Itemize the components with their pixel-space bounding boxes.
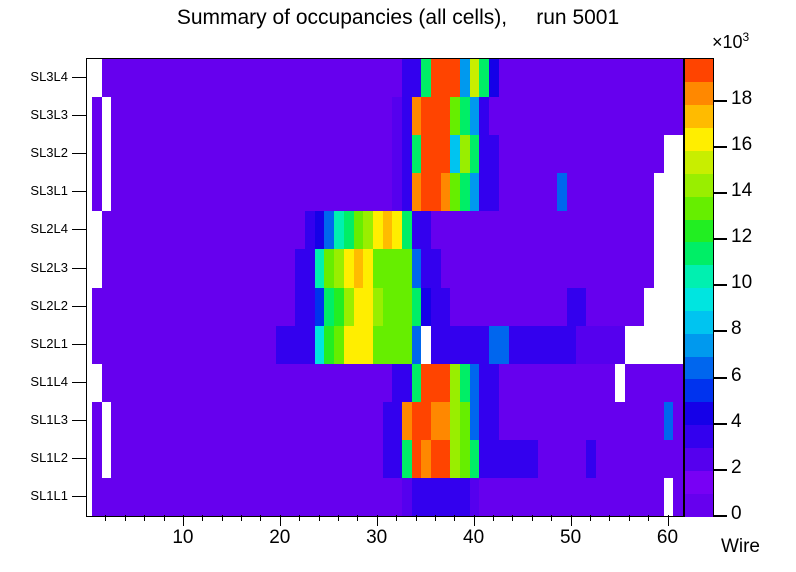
x-tick-label: 10 <box>153 527 213 549</box>
x-tick <box>338 515 339 521</box>
x-tick <box>125 515 126 521</box>
heatmap-cell <box>673 326 683 365</box>
heatmap-grid[interactable] <box>87 59 683 516</box>
x-tick <box>396 515 397 521</box>
colorbar-band <box>685 356 713 379</box>
x-tick <box>260 515 261 521</box>
y-tick-label-sl3l2: SL3L2 <box>0 145 68 160</box>
y-tick-label-sl1l2: SL1L2 <box>0 450 68 465</box>
page-title: Summary of occupancies (all cells), run … <box>0 6 796 30</box>
y-tick <box>72 191 86 192</box>
y-tick <box>72 268 86 269</box>
colorbar-tick <box>714 100 727 102</box>
colorbar-band <box>685 470 713 493</box>
colorbar-tick-label: 6 <box>731 365 742 387</box>
x-tick <box>241 515 242 521</box>
colorbar-band <box>685 59 713 82</box>
colorbar-band <box>685 379 713 402</box>
colorbar-tick <box>714 515 727 517</box>
heatmap-cell <box>673 135 683 174</box>
y-tick-label-sl1l1: SL1L1 <box>0 488 68 503</box>
x-tick <box>183 515 184 526</box>
y-tick <box>72 496 86 497</box>
y-tick <box>72 458 86 459</box>
x-tick <box>299 515 300 521</box>
x-tick <box>609 515 610 521</box>
colorbar-band <box>685 288 713 311</box>
heatmap-cell <box>673 288 683 327</box>
heatmap-cell <box>673 211 683 250</box>
y-tick <box>72 306 86 307</box>
y-tick <box>72 115 86 116</box>
x-tick <box>377 515 378 526</box>
x-tick-label: 50 <box>541 527 601 549</box>
x-tick <box>416 515 417 521</box>
y-tick-label-sl3l3: SL3L3 <box>0 107 68 122</box>
colorbar-tick-label: 10 <box>731 272 752 294</box>
y-tick <box>72 382 86 383</box>
colorbar-tick <box>714 330 727 332</box>
y-tick-label-sl1l3: SL1L3 <box>0 412 68 427</box>
y-tick <box>72 344 86 345</box>
colorbar[interactable] <box>684 58 714 517</box>
colorbar-band <box>685 425 713 448</box>
heatmap-cell <box>673 364 683 403</box>
y-tick <box>72 77 86 78</box>
y-tick-label-sl3l4: SL3L4 <box>0 69 68 84</box>
colorbar-tick-label: 12 <box>731 226 752 248</box>
x-tick <box>629 515 630 521</box>
root-canvas: Summary of occupancies (all cells), run … <box>0 0 796 572</box>
colorbar-band <box>685 196 713 219</box>
colorbar-band <box>685 173 713 196</box>
colorbar-band <box>685 265 713 288</box>
y-tick-label-sl2l3: SL2L3 <box>0 260 68 275</box>
colorbar-band <box>685 242 713 265</box>
colorbar-gradient <box>685 59 713 516</box>
y-tick <box>72 420 86 421</box>
x-tick-label: 30 <box>347 527 407 549</box>
colorbar-band <box>685 310 713 333</box>
x-tick <box>357 515 358 521</box>
x-tick <box>280 515 281 526</box>
x-axis-title: Wire <box>721 536 760 558</box>
x-tick-label: 40 <box>444 527 504 549</box>
colorbar-tick <box>714 423 727 425</box>
x-tick <box>319 515 320 521</box>
heatmap-cell <box>673 173 683 212</box>
x-tick <box>435 515 436 521</box>
colorbar-tick <box>714 377 727 379</box>
colorbar-band <box>685 105 713 128</box>
colorbar-tick-label: 2 <box>731 457 742 479</box>
plot-frame[interactable] <box>86 58 684 517</box>
colorbar-tick-label: 14 <box>731 180 752 202</box>
colorbar-tick <box>714 284 727 286</box>
x-tick <box>454 515 455 521</box>
x-tick <box>532 515 533 521</box>
x-tick <box>105 515 106 521</box>
x-tick <box>668 515 669 526</box>
colorbar-band <box>685 447 713 470</box>
y-tick <box>72 229 86 230</box>
colorbar-tick <box>714 469 727 471</box>
x-tick-label: 60 <box>638 527 698 549</box>
colorbar-exponent: ×103 <box>712 30 749 53</box>
x-tick <box>512 515 513 521</box>
x-tick <box>648 515 649 521</box>
colorbar-tick-label: 8 <box>731 318 742 340</box>
y-tick-label-sl1l4: SL1L4 <box>0 374 68 389</box>
x-tick <box>493 515 494 521</box>
x-tick <box>164 515 165 521</box>
colorbar-tick <box>714 146 727 148</box>
x-tick <box>590 515 591 521</box>
y-tick-label-sl3l1: SL3L1 <box>0 183 68 198</box>
colorbar-band <box>685 333 713 356</box>
colorbar-band <box>685 150 713 173</box>
colorbar-band <box>685 493 713 516</box>
colorbar-tick-label: 4 <box>731 411 742 433</box>
y-tick-label-sl2l1: SL2L1 <box>0 336 68 351</box>
x-tick <box>551 515 552 521</box>
heatmap-cell <box>673 97 683 136</box>
colorbar-tick-label: 16 <box>731 134 752 156</box>
colorbar-band <box>685 128 713 151</box>
heatmap-cell <box>673 478 683 516</box>
y-tick <box>72 153 86 154</box>
y-tick-label-sl2l2: SL2L2 <box>0 298 68 313</box>
x-tick <box>571 515 572 526</box>
colorbar-band <box>685 219 713 242</box>
colorbar-tick-label: 18 <box>731 88 752 110</box>
x-tick <box>222 515 223 521</box>
x-tick <box>202 515 203 521</box>
colorbar-tick <box>714 192 727 194</box>
x-tick-label: 20 <box>250 527 310 549</box>
colorbar-band <box>685 402 713 425</box>
heatmap-cell <box>673 59 683 98</box>
x-tick <box>474 515 475 526</box>
y-tick-label-sl2l4: SL2L4 <box>0 221 68 236</box>
colorbar-tick-label: 0 <box>731 503 742 525</box>
heatmap-cell <box>673 249 683 288</box>
heatmap-cell <box>673 402 683 441</box>
x-tick <box>144 515 145 521</box>
heatmap-cell <box>673 440 683 479</box>
colorbar-tick <box>714 238 727 240</box>
colorbar-band <box>685 82 713 105</box>
